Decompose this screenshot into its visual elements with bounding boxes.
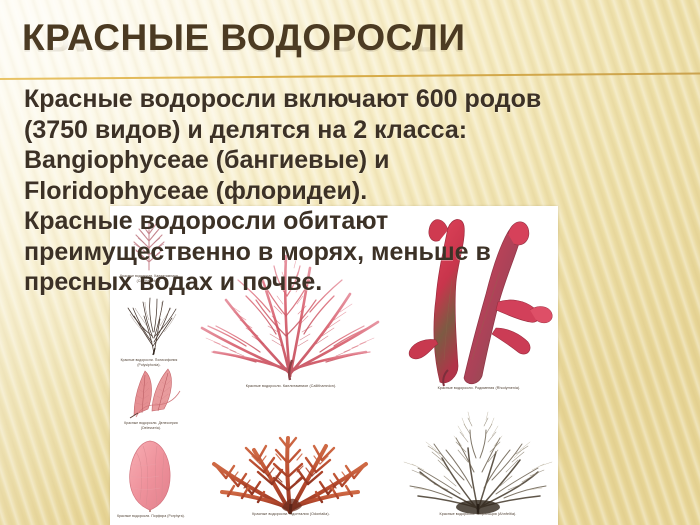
caption-callithamnion: Красные водоросли. Каллитамнион (Callith… bbox=[246, 384, 337, 388]
body-text-block: Красные водоросли включают 600 родов (37… bbox=[24, 84, 624, 298]
figure-cell-ahnfeltia: Красные водоросли. Анфельция (Ahnfeltia)… bbox=[398, 402, 558, 524]
presentation-slide: Красные водоросли Красные водоросли Крас… bbox=[0, 0, 700, 525]
body-line-5: Красные водоросли обитают bbox=[24, 206, 624, 237]
caption-porphyra: Красные водоросли. Порфира (Porphyra). bbox=[117, 514, 185, 518]
ahnfeltia-icon bbox=[398, 402, 558, 514]
caption-delesseria: Красные водоросли. Делессерия (Delesseri… bbox=[124, 421, 178, 430]
caption-ahnfeltia: Красные водоросли. Анфельция (Ahnfeltia)… bbox=[440, 512, 517, 516]
figure-cell-porphyra: Красные водоросли. Порфира (Porphyra). bbox=[112, 438, 190, 524]
body-line-4: Floridophyceae (флоридеи). bbox=[24, 176, 624, 207]
figure-cell-odontalia: Красные водоросли. Одонталия (Odontalia)… bbox=[186, 402, 396, 524]
odontalia-icon bbox=[186, 402, 396, 514]
body-line-7: пресных водах и почве. bbox=[24, 267, 624, 298]
body-line-6: преимущественно в морях, меньше в bbox=[24, 237, 624, 268]
figure-cell-delesseria: Красные водоросли. Делессерия (Delesseri… bbox=[114, 361, 188, 431]
porphyra-icon bbox=[112, 438, 190, 512]
body-line-3: Bangiophyceae (бангиевые) и bbox=[24, 145, 624, 176]
body-line-2: (3750 видов) и делятся на 2 класса: bbox=[24, 115, 624, 146]
caption-odontalia: Красные водоросли. Одонталия (Odontalia)… bbox=[252, 512, 330, 516]
body-line-1: Красные водоросли включают 600 родов bbox=[24, 84, 624, 115]
delesseria-icon bbox=[114, 361, 188, 419]
title-reflection: Красные водоросли bbox=[22, 19, 682, 58]
caption-rhodymenia: Красные водоросли. Родимения (Rhodymenia… bbox=[438, 386, 521, 390]
